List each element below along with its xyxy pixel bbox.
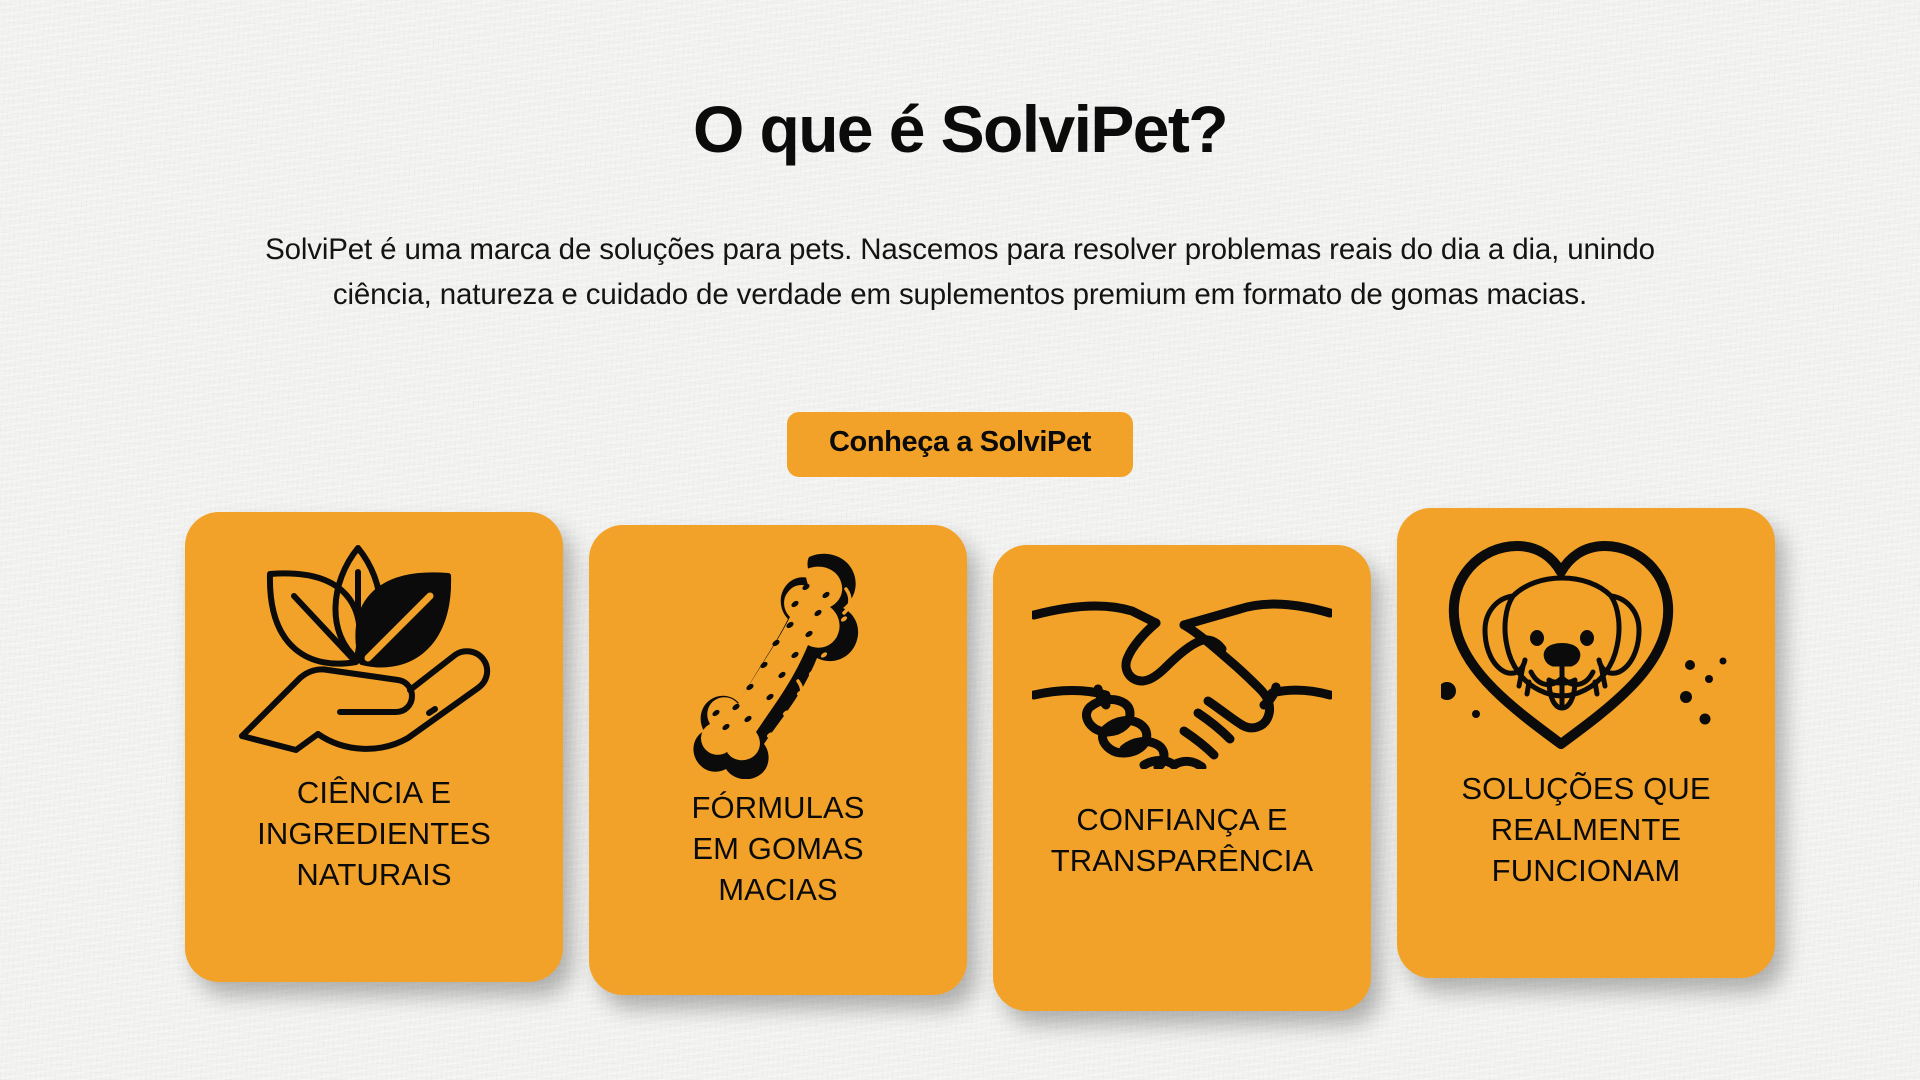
feature-card-solucoes-que-realmente-funcionam[interactable]: SOLUÇÕES QUE REALMENTE FUNCIONAM [1397,508,1775,978]
hand-holding-leaves-icon [185,538,563,758]
feature-card-label: SOLUÇÕES QUE REALMENTE FUNCIONAM [1449,768,1722,892]
page-title: O que é SolviPet? [0,96,1920,162]
cta-container: Conheça a SolviPet [0,412,1920,477]
intro-paragraph: SolviPet é uma marca de soluções para pe… [265,228,1655,318]
dog-bone-gummy-icon [589,547,967,779]
feature-card-formulas-em-gomas-macias[interactable]: FÓRMULAS EM GOMAS MACIAS [589,525,967,995]
feature-card-label: CIÊNCIA E INGREDIENTES NATURAIS [245,772,503,896]
feature-card-list: CIÊNCIA E INGREDIENTES NATURAIS [0,508,1920,1008]
feature-card-label: FÓRMULAS EM GOMAS MACIAS [679,787,876,911]
dog-in-heart-icon [1397,532,1775,756]
handshake-icon [993,589,1371,769]
conheca-solvipet-button[interactable]: Conheça a SolviPet [787,412,1133,477]
feature-card-label: CONFIANÇA E TRANSPARÊNCIA [1039,799,1326,881]
feature-card-ciencia-ingredientes-naturais[interactable]: CIÊNCIA E INGREDIENTES NATURAIS [185,512,563,982]
feature-card-confianca-transparencia[interactable]: CONFIANÇA E TRANSPARÊNCIA [993,545,1371,1011]
about-section: O que é SolviPet? SolviPet é uma marca d… [0,0,1920,1080]
